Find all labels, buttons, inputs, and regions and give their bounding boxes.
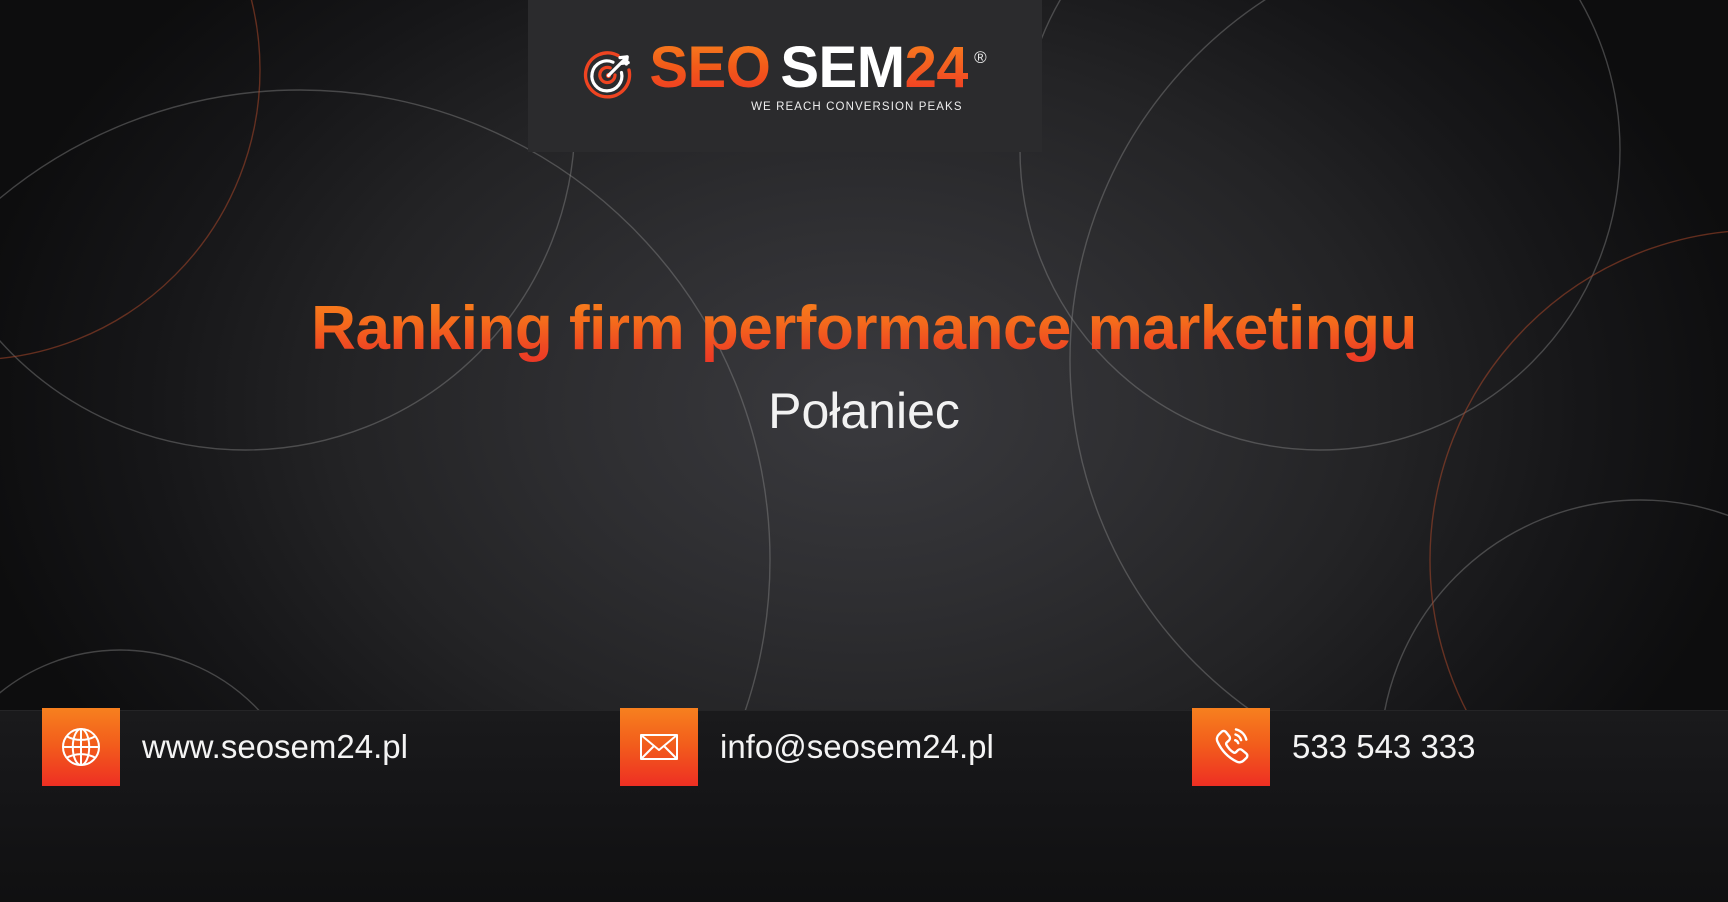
footer-contact-list: www.seosem24.pl info@seosem24.pl xyxy=(0,690,1728,902)
phone-ring-icon xyxy=(1192,708,1270,786)
slide-canvas: SEO SEM 24 ® WE REACH CONVERSION PEAKS R… xyxy=(0,0,1728,902)
page-title: Ranking firm performance marketingu xyxy=(60,296,1668,362)
brand-logo[interactable]: SEO SEM 24 ® WE REACH CONVERSION PEAKS xyxy=(528,0,1042,152)
target-arrow-icon xyxy=(583,50,635,102)
globe-icon xyxy=(42,708,120,786)
email-label: info@seosem24.pl xyxy=(720,728,994,766)
registered-trademark-icon: ® xyxy=(974,49,987,66)
contact-phone[interactable]: 533 543 333 xyxy=(1192,708,1476,786)
website-label: www.seosem24.pl xyxy=(142,728,408,766)
hero-text-block: Ranking firm performance marketingu Poła… xyxy=(0,296,1728,439)
logo-word-24: 24 xyxy=(905,39,969,97)
logo-word-sem: SEM xyxy=(780,39,904,97)
logo-tagline: WE REACH CONVERSION PEAKS xyxy=(649,101,986,113)
contact-email[interactable]: info@seosem24.pl xyxy=(620,708,994,786)
page-subtitle: Połaniec xyxy=(60,384,1668,439)
envelope-icon xyxy=(620,708,698,786)
contact-website[interactable]: www.seosem24.pl xyxy=(42,708,408,786)
logo-word-seo: SEO xyxy=(649,39,770,97)
phone-label: 533 543 333 xyxy=(1292,728,1476,766)
